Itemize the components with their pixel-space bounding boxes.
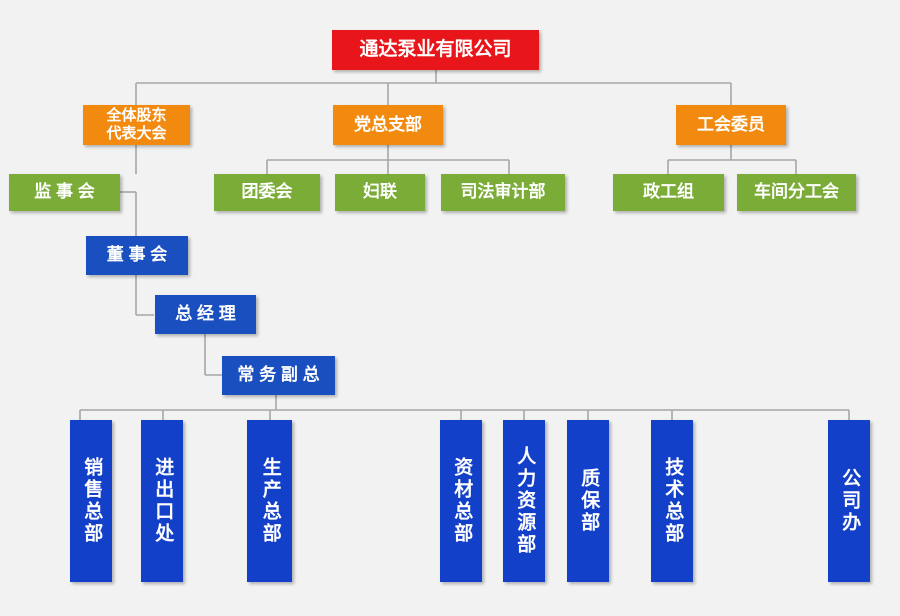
- node-quality-dept-label: 质保部: [577, 468, 599, 534]
- node-root-label: 通达泵业有限公司: [359, 39, 511, 61]
- node-company-office-label: 公司办: [838, 468, 860, 534]
- node-board-of-directors[interactable]: 董 事 会: [86, 236, 188, 275]
- node-import-export[interactable]: 进出口处: [141, 420, 183, 582]
- node-quality-dept[interactable]: 质保部: [567, 420, 609, 582]
- node-board-of-directors-label: 董 事 会: [107, 245, 167, 265]
- node-union-committee[interactable]: 工会委员: [676, 105, 786, 145]
- node-supervisory-board-label: 监 事 会: [34, 182, 94, 202]
- node-political-group[interactable]: 政工组: [613, 174, 724, 211]
- node-political-group-label: 政工组: [643, 182, 694, 202]
- node-union-committee-label: 工会委员: [697, 115, 765, 135]
- node-womens-federation-label: 妇联: [363, 182, 397, 202]
- node-production-hq-label: 生产总部: [258, 457, 280, 545]
- node-party-branch[interactable]: 党总支部: [333, 105, 443, 145]
- node-party-branch-label: 党总支部: [354, 115, 422, 135]
- node-materials-hq[interactable]: 资材总部: [440, 420, 482, 582]
- node-general-manager[interactable]: 总 经 理: [155, 295, 256, 334]
- node-production-hq[interactable]: 生产总部: [247, 420, 292, 582]
- node-import-export-label: 进出口处: [151, 457, 173, 545]
- node-youth-league-label: 团委会: [242, 182, 293, 202]
- node-executive-vice-president[interactable]: 常 务 副 总: [222, 356, 335, 395]
- node-shareholders-label-line1: 全体股东: [106, 107, 166, 125]
- node-sales-hq[interactable]: 销售总部: [70, 420, 112, 582]
- node-human-resources-label: 人力资源部: [513, 446, 535, 556]
- node-judicial-audit[interactable]: 司法审计部: [441, 174, 565, 211]
- node-company-office[interactable]: 公司办: [828, 420, 870, 582]
- node-judicial-audit-label: 司法审计部: [461, 182, 546, 202]
- node-workshop-union[interactable]: 车间分工会: [737, 174, 856, 211]
- node-shareholders[interactable]: 全体股东 代表大会: [83, 105, 190, 145]
- node-technology-hq[interactable]: 技术总部: [651, 420, 693, 582]
- node-womens-federation[interactable]: 妇联: [335, 174, 425, 211]
- node-sales-hq-label: 销售总部: [80, 457, 102, 545]
- node-executive-vice-president-label: 常 务 副 总: [237, 365, 319, 385]
- node-human-resources[interactable]: 人力资源部: [503, 420, 545, 582]
- node-shareholders-label-line2: 代表大会: [106, 125, 166, 143]
- node-supervisory-board[interactable]: 监 事 会: [9, 174, 120, 211]
- node-workshop-union-label: 车间分工会: [754, 182, 839, 202]
- node-materials-hq-label: 资材总部: [450, 457, 472, 545]
- node-root[interactable]: 通达泵业有限公司: [332, 30, 539, 70]
- node-youth-league[interactable]: 团委会: [214, 174, 320, 211]
- node-technology-hq-label: 技术总部: [661, 457, 683, 545]
- org-chart: 通达泵业有限公司 全体股东 代表大会 党总支部 工会委员 监 事 会 团委会 妇…: [0, 0, 900, 616]
- node-general-manager-label: 总 经 理: [175, 304, 235, 324]
